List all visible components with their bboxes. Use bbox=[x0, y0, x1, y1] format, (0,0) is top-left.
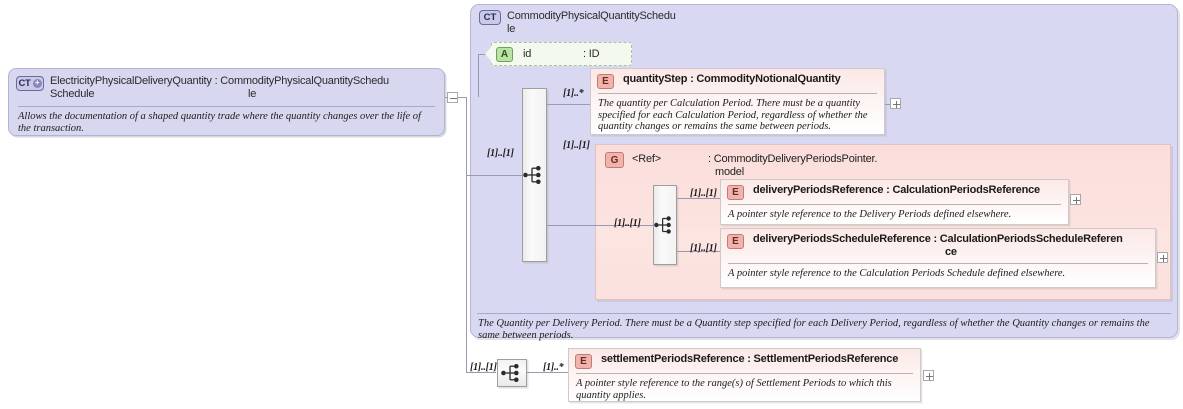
cardinality-ref-inner: [1]..[1] bbox=[614, 218, 641, 229]
settlement-periods-reference-head: E settlementPeriodsReference : Settlemen… bbox=[569, 349, 920, 371]
delivery-periods-schedule-reference-documentation: A pointer style reference to the Calcula… bbox=[721, 264, 1155, 285]
element-badge-icon[interactable]: E bbox=[575, 354, 592, 369]
quantity-step-badge-label: E bbox=[602, 76, 609, 87]
outer-sequence-compositor[interactable] bbox=[522, 88, 547, 262]
group-type-label: : CommodityDeliveryPeriodsPointer. model bbox=[708, 153, 918, 178]
root-complex-type-box[interactable]: CT+ ElectricityPhysicalDeliveryQuantity … bbox=[8, 68, 445, 136]
attribute-badge-icon[interactable]: A bbox=[496, 47, 513, 62]
root-title-line2b: le bbox=[248, 88, 256, 100]
quantity-step-title: quantityStep : CommodityNotionalQuantity bbox=[623, 73, 841, 86]
dpsr-title-line2: ce bbox=[945, 246, 957, 259]
schema-diagram-canvas: CT+ ElectricityPhysicalDeliveryQuantity … bbox=[0, 0, 1183, 409]
delivery-periods-schedule-reference-expand-icon[interactable] bbox=[1157, 252, 1168, 263]
container-complex-type-badge-icon[interactable]: CT bbox=[479, 10, 501, 25]
root-title-line1: ElectricityPhysicalDeliveryQuantity : Co… bbox=[50, 75, 389, 87]
element-badge-icon[interactable]: E bbox=[727, 234, 744, 249]
delivery-periods-schedule-reference-title: deliveryPeriodsScheduleReference : Calcu… bbox=[753, 233, 1123, 259]
settlement-periods-reference-title: settlementPeriodsReference : SettlementP… bbox=[601, 353, 898, 366]
quantity-step-expand-icon[interactable] bbox=[890, 98, 901, 109]
cardinality-delivery-periods-reference: [1]..[1] bbox=[690, 188, 717, 199]
root-documentation: Allows the documentation of a shaped qua… bbox=[9, 107, 444, 140]
root-header: CT+ ElectricityPhysicalDeliveryQuantity … bbox=[9, 69, 444, 105]
connector-to-quantity-step bbox=[547, 104, 593, 105]
sequence-icon bbox=[654, 216, 676, 234]
sequence-icon bbox=[523, 166, 546, 184]
container-badge-label: CT bbox=[484, 12, 497, 23]
delivery-periods-reference-expand-icon[interactable] bbox=[1070, 194, 1081, 205]
cardinality-ref-group: [1]..[1] bbox=[563, 140, 590, 151]
connector-quantity-step-to-expand bbox=[885, 104, 890, 105]
cardinality-outer-sequence: [1]..[1] bbox=[487, 148, 514, 159]
dpsr-badge-label: E bbox=[732, 236, 739, 247]
connector-main-vertical bbox=[466, 97, 467, 372]
quantity-step-head: E quantityStep : CommodityNotionalQuanti… bbox=[591, 69, 884, 91]
element-settlement-periods-reference-box[interactable]: E settlementPeriodsReference : Settlemen… bbox=[568, 348, 921, 402]
element-delivery-periods-schedule-reference-box[interactable]: E deliveryPeriodsScheduleReference : Cal… bbox=[720, 228, 1156, 288]
element-delivery-periods-reference-box[interactable]: E deliveryPeriodsReference : Calculation… bbox=[720, 179, 1069, 225]
cardinality-quantity-step: [1]..* bbox=[563, 88, 583, 99]
ref-inner-sequence-compositor[interactable] bbox=[653, 185, 677, 265]
container-title-group: CT CommodityPhysicalQuantitySchedu le bbox=[479, 10, 676, 35]
element-badge-icon[interactable]: E bbox=[727, 185, 744, 200]
delivery-periods-reference-title: deliveryPeriodsReference : CalculationPe… bbox=[753, 184, 1040, 197]
container-documentation: The Quantity per Delivery Period. There … bbox=[478, 318, 1164, 342]
group-type-line1: : CommodityDeliveryPeriodsPointer. bbox=[708, 153, 877, 165]
group-ref-label: <Ref> bbox=[632, 153, 661, 165]
ct-badge-label: CT bbox=[18, 78, 30, 89]
container-title-line1: CommodityPhysicalQuantitySchedu bbox=[507, 10, 676, 22]
group-badge-label: G bbox=[611, 155, 619, 166]
delivery-periods-reference-documentation: A pointer style reference to the Deliver… bbox=[721, 205, 1068, 226]
spr-badge-label: E bbox=[580, 356, 587, 367]
container-title-line2: le bbox=[507, 23, 515, 35]
element-badge-icon[interactable]: E bbox=[597, 74, 614, 89]
cardinality-settlement-periods-reference: [1]..* bbox=[543, 362, 563, 373]
settlement-sequence-compositor[interactable] bbox=[497, 359, 527, 387]
attribute-type: : ID bbox=[583, 48, 599, 60]
dpr-badge-label: E bbox=[732, 187, 739, 198]
container-title: CommodityPhysicalQuantitySchedu le bbox=[507, 10, 676, 35]
settlement-periods-reference-documentation: A pointer style reference to the range(s… bbox=[569, 374, 920, 406]
cardinality-delivery-periods-schedule-reference: [1]..[1] bbox=[690, 243, 717, 254]
connector-into-outer-sequence bbox=[486, 175, 522, 176]
container-divider bbox=[477, 313, 1171, 314]
group-type-line2: model bbox=[715, 166, 744, 179]
connector-trunk-to-sequence bbox=[466, 175, 486, 176]
root-title-line2a: Schedule bbox=[50, 88, 248, 101]
complex-type-badge-icon[interactable]: CT+ bbox=[16, 76, 44, 91]
attribute-id-box[interactable]: A id : ID bbox=[491, 42, 632, 66]
delivery-periods-schedule-reference-head: E deliveryPeriodsScheduleReference : Cal… bbox=[721, 229, 1155, 261]
element-quantity-step-box[interactable]: E quantityStep : CommodityNotionalQuanti… bbox=[590, 68, 885, 135]
connector-root-to-toggle bbox=[445, 97, 448, 98]
root-collapse-toggle-icon[interactable] bbox=[447, 92, 458, 103]
attribute-badge-label: A bbox=[501, 49, 508, 60]
connector-toggle-right bbox=[458, 97, 466, 98]
sequence-icon bbox=[501, 364, 524, 382]
root-title: ElectricityPhysicalDeliveryQuantity : Co… bbox=[50, 75, 389, 101]
delivery-periods-reference-head: E deliveryPeriodsReference : Calculation… bbox=[721, 180, 1068, 202]
connector-to-ref-group bbox=[547, 225, 595, 226]
attribute-name: id bbox=[523, 48, 583, 60]
cardinality-settlement-sequence: [1]..[1] bbox=[470, 362, 497, 373]
connector-attr-vertical bbox=[478, 54, 479, 97]
group-badge-icon[interactable]: G bbox=[605, 152, 624, 168]
plus-circle-icon[interactable]: + bbox=[33, 79, 42, 88]
dpsr-title-line1: deliveryPeriodsScheduleReference : Calcu… bbox=[753, 233, 1123, 245]
quantity-step-documentation: The quantity per Calculation Period. The… bbox=[591, 94, 884, 138]
settlement-periods-reference-expand-icon[interactable] bbox=[923, 370, 934, 381]
